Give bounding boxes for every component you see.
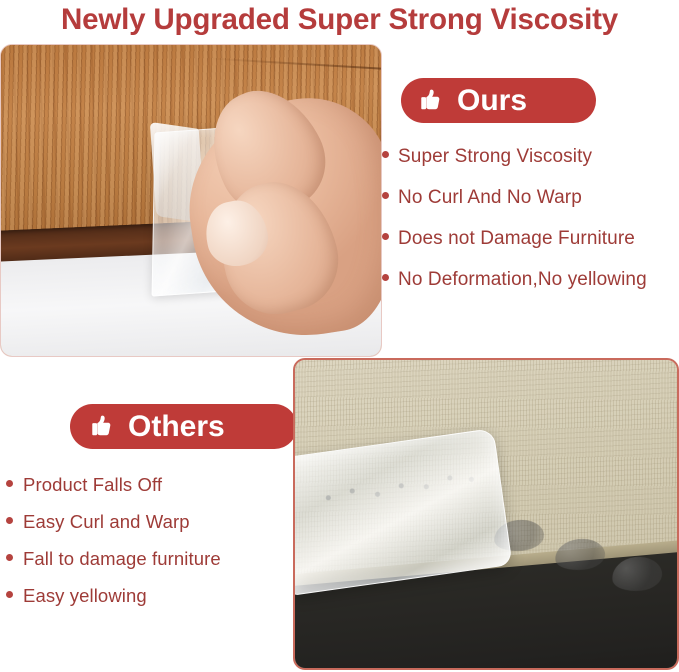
badge-ours: Ours xyxy=(401,78,596,123)
list-item-label: Fall to damage furniture xyxy=(23,548,221,570)
list-item-label: Does not Damage Furniture xyxy=(398,228,635,250)
list-item: Easy Curl and Warp xyxy=(6,511,296,548)
ours-feature-list: Super Strong Viscosity No Curl And No Wa… xyxy=(382,146,679,310)
bullet-dot-icon xyxy=(382,233,389,240)
bullet-dot-icon xyxy=(382,151,389,158)
list-item: Fall to damage furniture xyxy=(6,548,296,585)
list-item-label: No Deformation,No yellowing xyxy=(398,269,647,291)
photo-others-artwork xyxy=(295,360,677,668)
thumbs-up-icon xyxy=(419,87,447,115)
list-item-label: Product Falls Off xyxy=(23,474,162,496)
list-item: Product Falls Off xyxy=(6,474,296,511)
bullet-dot-icon xyxy=(6,517,13,524)
badge-others: Others xyxy=(70,404,297,449)
page-title: Newly Upgraded Super Strong Viscosity xyxy=(5,2,674,38)
list-item-label: Easy yellowing xyxy=(23,585,147,607)
bullet-dot-icon xyxy=(6,554,13,561)
badge-ours-label: Ours xyxy=(457,86,527,116)
list-item: Does not Damage Furniture xyxy=(382,228,679,269)
list-item: Super Strong Viscosity xyxy=(382,146,679,187)
list-item-label: No Curl And No Warp xyxy=(398,187,582,209)
bullet-dot-icon xyxy=(6,480,13,487)
product-photo-others xyxy=(293,358,679,670)
list-item: No Curl And No Warp xyxy=(382,187,679,228)
list-item: Easy yellowing xyxy=(6,585,296,622)
bullet-dot-icon xyxy=(382,274,389,281)
bullet-dot-icon xyxy=(6,591,13,598)
list-item-label: Easy Curl and Warp xyxy=(23,511,190,533)
others-drawback-list: Product Falls Off Easy Curl and Warp Fal… xyxy=(6,474,296,622)
list-item-label: Super Strong Viscosity xyxy=(398,146,592,168)
bullet-dot-icon xyxy=(382,192,389,199)
thumbs-up-icon xyxy=(90,413,118,441)
list-item: No Deformation,No yellowing xyxy=(382,269,679,310)
badge-others-label: Others xyxy=(128,412,225,442)
photo-ours-artwork xyxy=(1,45,381,356)
product-photo-ours xyxy=(0,44,382,357)
